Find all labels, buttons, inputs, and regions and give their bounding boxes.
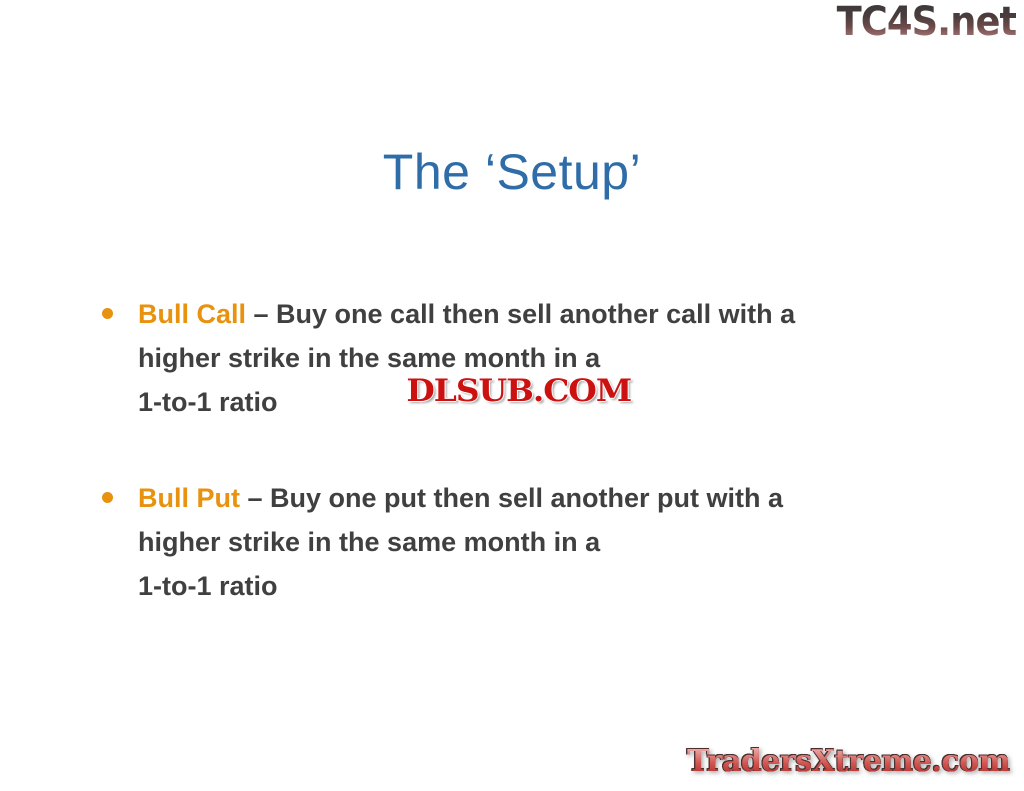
bullet-term: Bull Call	[138, 299, 246, 329]
page-title: The ‘Setup’	[0, 142, 1024, 202]
bullet-term: Bull Put	[138, 483, 240, 513]
list-item: Bull Put – Buy one put then sell another…	[96, 476, 956, 608]
bullet-line-1: Bull Call – Buy one call then sell anoth…	[138, 292, 956, 336]
presentation-slide: TC4S.net The ‘Setup’ Bull Call – Buy one…	[0, 0, 1024, 791]
bullet-line-3: 1-to-1 ratio	[138, 564, 956, 608]
bullet-list: Bull Call – Buy one call then sell anoth…	[96, 292, 956, 608]
bullet-line-2: higher strike in the same month in a	[138, 520, 956, 564]
dlsub-watermark: DLSUB.COM	[400, 374, 638, 411]
list-item: Bull Call – Buy one call then sell anoth…	[96, 292, 956, 424]
bullet-line-1-text: – Buy one put then sell another put with…	[240, 483, 783, 513]
tradersxtreme-logo: TradersXtreme.com	[687, 747, 1010, 777]
bullet-line-3-row: 1-to-1 ratio DLSUB.COM	[138, 380, 956, 424]
bullet-line-1-text: – Buy one call then sell another call wi…	[246, 299, 795, 329]
bullet-dot-icon	[102, 492, 113, 503]
bullet-dot-icon	[102, 308, 113, 319]
tc4s-logo: TC4S.net	[836, 2, 1016, 42]
bullet-line-1: Bull Put – Buy one put then sell another…	[138, 476, 956, 520]
